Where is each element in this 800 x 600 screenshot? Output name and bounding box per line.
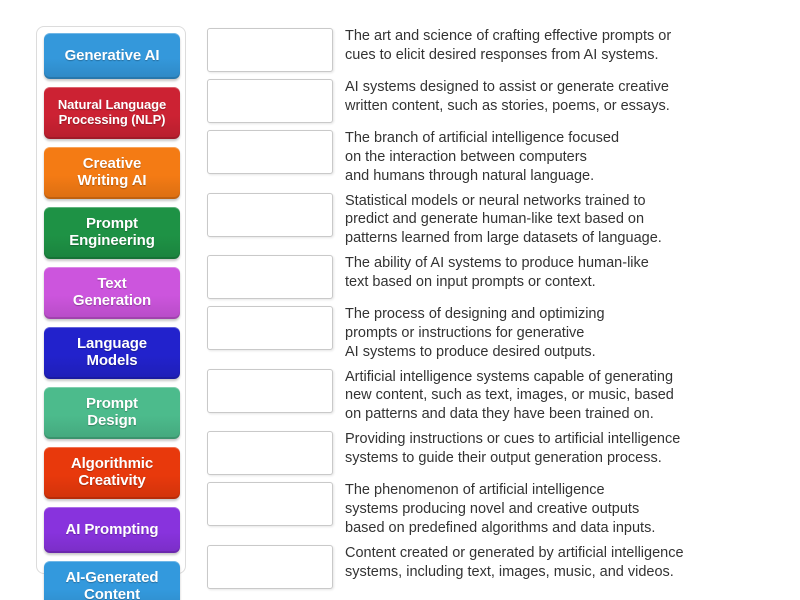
definition-text: Providing instructions or cues to artifi… [333,429,767,468]
term-tile[interactable]: Generative AI [44,33,180,79]
terms-panel: Generative AINatural Language Processing… [36,26,186,574]
term-tile[interactable]: Text Generation [44,267,180,319]
term-tile[interactable]: Creative Writing AI [44,147,180,199]
drop-slot[interactable] [207,306,333,350]
term-tile[interactable]: Language Models [44,327,180,379]
term-tile[interactable]: AI-Generated Content [44,561,180,600]
term-tile[interactable]: Natural Language Processing (NLP) [44,87,180,139]
definition-text: Artificial intelligence systems capable … [333,367,767,425]
answer-row: The ability of AI systems to produce hum… [207,253,767,299]
answers-column: The art and science of crafting effectiv… [207,26,767,574]
definition-text: The branch of artificial intelligence fo… [333,128,767,186]
drop-slot[interactable] [207,193,333,237]
answer-row: Artificial intelligence systems capable … [207,367,767,425]
answer-row: The phenomenon of artificial intelligenc… [207,480,767,538]
definition-text: Content created or generated by artifici… [333,543,767,582]
term-tile[interactable]: Prompt Engineering [44,207,180,259]
answer-row: AI systems designed to assist or generat… [207,77,767,123]
drop-slot[interactable] [207,431,333,475]
drop-slot[interactable] [207,369,333,413]
match-up-activity: Generative AINatural Language Processing… [0,0,800,600]
answer-row: Statistical models or neural networks tr… [207,191,767,249]
answer-row: The process of designing and optimizing … [207,304,767,362]
drop-slot[interactable] [207,255,333,299]
drop-slot[interactable] [207,130,333,174]
definition-text: Statistical models or neural networks tr… [333,191,767,249]
term-tile[interactable]: Algorithmic Creativity [44,447,180,499]
term-tile[interactable]: AI Prompting [44,507,180,553]
definition-text: The phenomenon of artificial intelligenc… [333,480,767,538]
definition-text: The ability of AI systems to produce hum… [333,253,767,292]
answer-row: Providing instructions or cues to artifi… [207,429,767,475]
drop-slot[interactable] [207,28,333,72]
definition-text: The process of designing and optimizing … [333,304,767,362]
definition-text: The art and science of crafting effectiv… [333,26,767,65]
drop-slot[interactable] [207,482,333,526]
definition-text: AI systems designed to assist or generat… [333,77,767,116]
answer-row: Content created or generated by artifici… [207,543,767,589]
term-tile[interactable]: Prompt Design [44,387,180,439]
answer-row: The art and science of crafting effectiv… [207,26,767,72]
answer-row: The branch of artificial intelligence fo… [207,128,767,186]
drop-slot[interactable] [207,545,333,589]
drop-slot[interactable] [207,79,333,123]
